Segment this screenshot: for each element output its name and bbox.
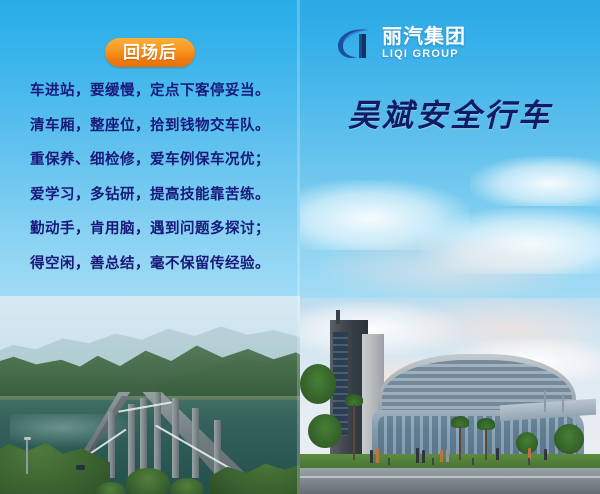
building-mast [562,394,564,412]
palm-trunk [459,426,461,460]
building-mast [544,390,546,412]
bridge-pier [214,420,221,478]
brand-name-cn: 丽汽集团 [382,27,466,47]
pedestrian [370,450,373,463]
foliage-cluster [300,364,336,404]
brand-logo-wordmark: 丽汽集团 LIQI GROUP [382,27,466,60]
plaza-bollard [432,458,434,465]
plaza-paving-line [300,476,600,478]
palm-tree [476,418,496,460]
left-panel: 回场后 车进站，要缓慢，定点下客停妥当。 清车厢，整座位，拾到钱物交车队。 重保… [0,0,300,494]
sky-cloud [470,156,600,206]
right-panel: 丽汽集团 LIQI GROUP 吴斌安全行车 操 作 法 [300,0,600,494]
bridge-vehicle [76,465,85,470]
pedestrian [496,448,499,460]
brand-logo: 丽汽集团 LIQI GROUP [335,24,466,62]
plaza-pavement [300,468,600,494]
palm-trunk [353,404,355,460]
bridge-pier [128,404,135,478]
pedestrian [416,448,419,463]
slogan-line-6: 得空闲，善总结，毫不保留传经验。 [0,257,300,272]
palm-tree [450,416,470,460]
slogan-line-3: 重保养、细检修，爱车例保车况优； [0,153,300,168]
plaza-bollard [528,458,530,465]
section-badge-label: 回场后 [123,44,177,61]
pedestrian [422,450,425,463]
bridge-photo-shrub [126,468,170,494]
plaza-bollard [388,458,390,465]
street-light [26,440,28,474]
slogan-line-1: 车进站，要缓慢，定点下客停妥当。 [0,84,300,99]
panel-divider [297,0,300,494]
foliage-cluster [554,424,584,454]
bridge-photo-shrub [170,478,204,494]
poster-root: 回场后 车进站，要缓慢，定点下客停妥当。 清车厢，整座位，拾到钱物交车队。 重保… [0,0,600,494]
pedestrian [440,450,443,462]
slogan-line-4: 爱学习，多钻研，提高技能靠苦练。 [0,188,300,203]
plaza-bollard [472,458,474,465]
palm-trunk [485,428,487,460]
brand-name-en: LIQI GROUP [382,49,466,60]
slogan-line-5: 勤动手，肯用脑，遇到问题多探讨； [0,222,300,237]
pedestrian [446,449,449,462]
poster-headline: 吴斌安全行车 [300,100,600,131]
section-badge: 回场后 [105,38,195,67]
building-photo [300,298,600,494]
bridge-photo [0,296,300,494]
building-tower-antenna [336,310,340,324]
palm-tree [344,394,364,460]
sky-cloud [320,236,580,300]
slogan-list: 车进站，要缓慢，定点下客停妥当。 清车厢，整座位，拾到钱物交车队。 重保养、细检… [0,84,300,291]
foliage-cluster [308,414,342,448]
liqi-swoosh-icon [335,24,375,62]
pedestrian [376,448,379,463]
slogan-line-2: 清车厢，整座位，拾到钱物交车队。 [0,119,300,134]
pedestrian [544,449,547,460]
bridge-pier [140,398,147,478]
foliage-cluster [516,432,538,454]
bridge-pier [192,408,199,478]
